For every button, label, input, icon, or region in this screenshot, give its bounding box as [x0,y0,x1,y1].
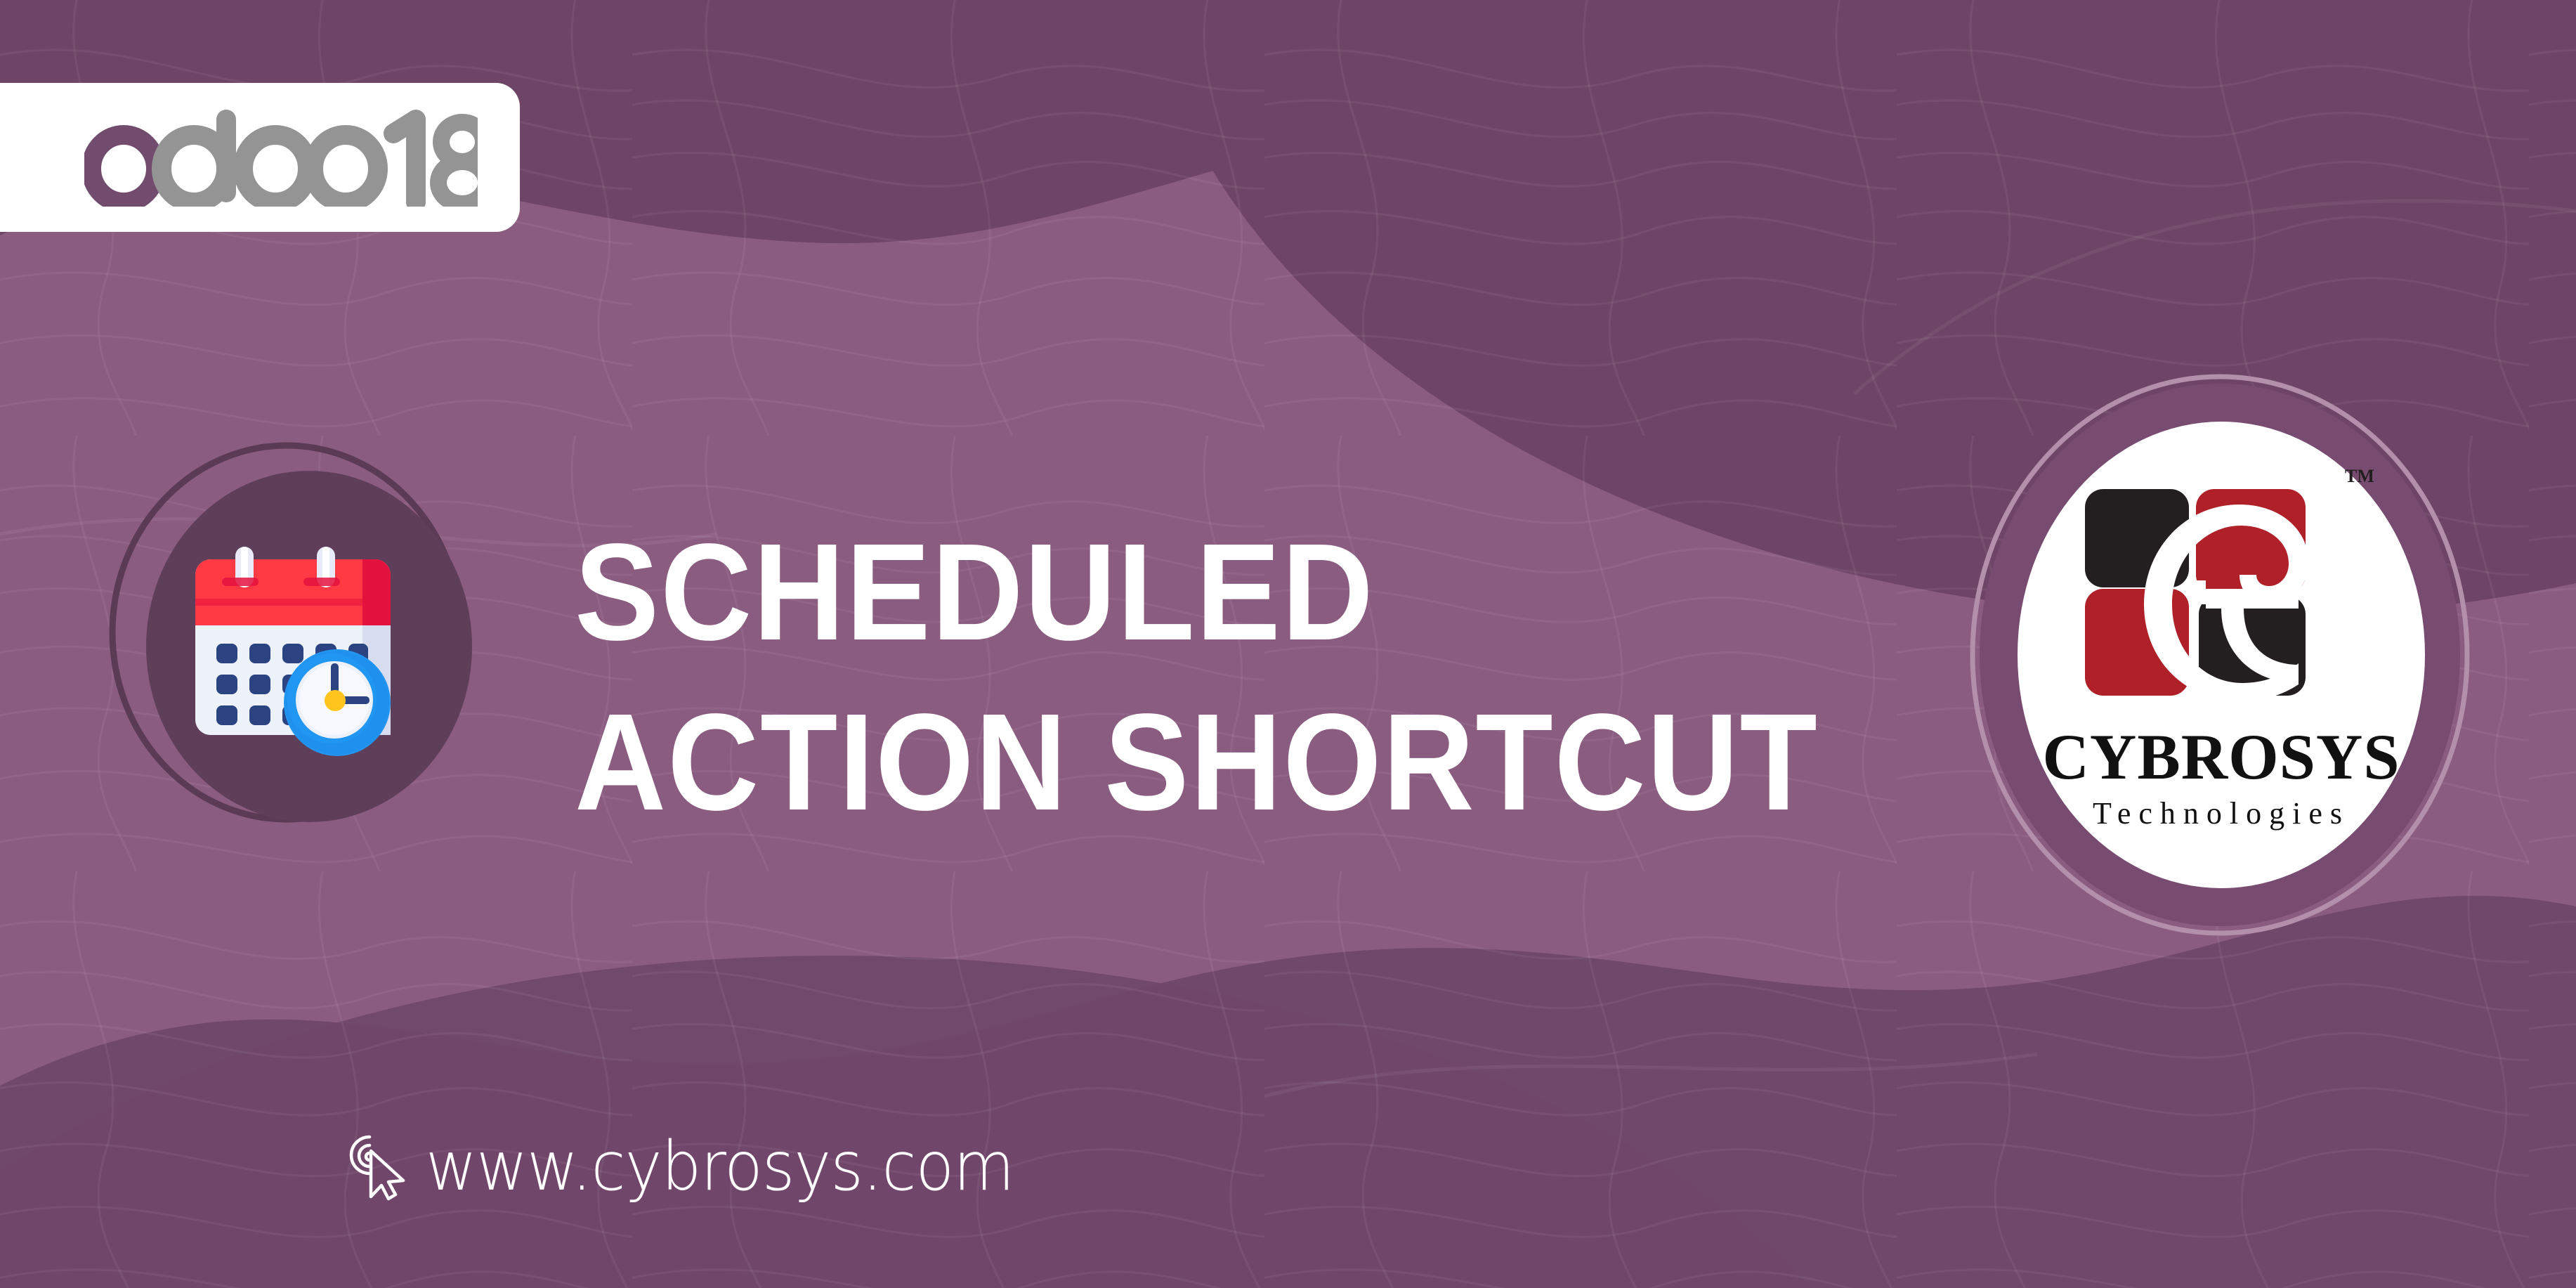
click-cursor-icon [346,1130,410,1203]
odoo-promo-banner: odoo 18 [0,0,2576,1288]
footer-website[interactable]: www.cybrosys.com [346,1130,1058,1203]
odoo-wordmark-icon [84,108,478,207]
calendar-clock-icon [98,422,506,857]
website-url[interactable]: www.cybrosys.com [426,1133,1014,1200]
calendar-emblem [98,422,506,857]
cybrosys-emblem: TM CYBROSYS Technologies CYBROSYS Techno… [1960,365,2480,949]
cybrosys-logo-icon: TM CYBROSYS Technologies [1960,365,2480,949]
trademark-mark: TM [2345,466,2374,486]
page-title: SCHEDULED ACTION SHORTCUT [575,507,1927,847]
cybrosys-tagline: Technologies [2093,796,2350,831]
headline-line-1: SCHEDULED [575,507,1819,677]
headline-line-2: ACTION SHORTCUT [575,677,1819,847]
cybrosys-name: CYBROSYS [2042,721,2400,793]
odoo-version-badge: odoo 18 [0,83,520,232]
